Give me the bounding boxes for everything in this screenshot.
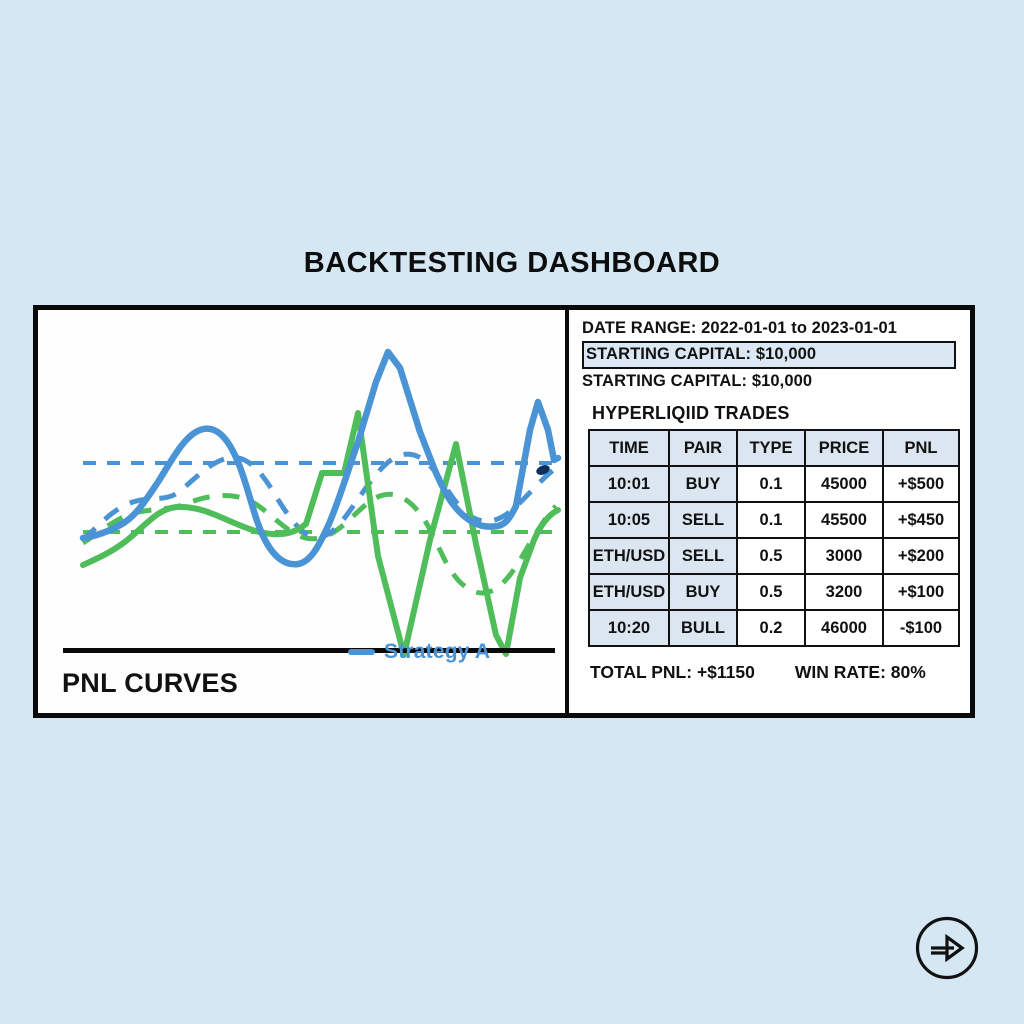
series-strategy-b xyxy=(83,413,558,655)
cell-type: 0.1 xyxy=(737,502,805,538)
trades-section-heading: HYPERLIQIID TRADES xyxy=(582,403,960,424)
cell-type: 0.2 xyxy=(737,610,805,646)
cell-time: ETH/USD xyxy=(589,538,669,574)
chart-caption: PNL CURVES xyxy=(62,668,238,699)
table-row[interactable]: 10:01 BUY 0.1 45000 +$500 xyxy=(589,466,959,502)
table-row[interactable]: ETH/USD BUY 0.5 3200 +$100 xyxy=(589,574,959,610)
series-strategy-a xyxy=(83,352,558,564)
cell-pnl: +$100 xyxy=(883,574,959,610)
win-rate-text: WIN RATE: 80% xyxy=(795,662,926,683)
circle-arrow-right-icon xyxy=(914,915,980,981)
table-header-row: TIME PAIR TYPE PRICE PNL xyxy=(589,430,959,466)
cell-time: 10:20 xyxy=(589,610,669,646)
column-header-pnl[interactable]: PNL xyxy=(883,430,959,466)
starting-capital-highlight-box[interactable]: STARTING CAPITAL: $10,000 xyxy=(582,341,956,369)
cell-type: 0.1 xyxy=(737,466,805,502)
starting-capital-text: STARTING CAPITAL: $10,000 xyxy=(582,372,960,391)
column-header-price[interactable]: PRICE xyxy=(805,430,883,466)
summary-row: TOTAL PNL: +$1150 WIN RATE: 80% xyxy=(582,662,960,683)
column-header-time[interactable]: TIME xyxy=(589,430,669,466)
cell-pair: SELL xyxy=(669,538,737,574)
cell-time: 10:05 xyxy=(589,502,669,538)
backtest-info-panel: DATE RANGE: 2022-01-01 to 2023-01-01 STA… xyxy=(569,310,970,713)
cell-type: 0.5 xyxy=(737,538,805,574)
cell-pnl: +$500 xyxy=(883,466,959,502)
cell-pair: BUY xyxy=(669,466,737,502)
cell-time: 10:01 xyxy=(589,466,669,502)
cell-pnl: -$100 xyxy=(883,610,959,646)
dashboard-panel: Strategy A PNL CURVES Strategy B DATE RA… xyxy=(33,305,975,718)
column-header-pair[interactable]: PAIR xyxy=(669,430,737,466)
pnl-chart-panel: Strategy A PNL CURVES Strategy B xyxy=(38,310,569,713)
table-row[interactable]: 10:20 BULL 0.2 46000 -$100 xyxy=(589,610,959,646)
table-row[interactable]: ETH/USD SELL 0.5 3000 +$200 xyxy=(589,538,959,574)
date-range-text: DATE RANGE: 2022-01-01 to 2023-01-01 xyxy=(582,319,960,338)
cell-pair: SELL xyxy=(669,502,737,538)
total-pnl-text: TOTAL PNL: +$1150 xyxy=(590,662,755,683)
cell-pair: BULL xyxy=(669,610,737,646)
page-title: BACKTESTING DASHBOARD xyxy=(0,247,1024,280)
cell-pnl: +$450 xyxy=(883,502,959,538)
legend-strategy-a[interactable]: Strategy A xyxy=(348,640,490,664)
cell-price: 3000 xyxy=(805,538,883,574)
legend-line-swatch-a xyxy=(348,649,375,655)
cell-price: 3200 xyxy=(805,574,883,610)
cell-pnl: +$200 xyxy=(883,538,959,574)
legend-strategy-a-label: Strategy A xyxy=(384,640,490,664)
starting-capital-highlight-text: STARTING CAPITAL: $10,000 xyxy=(586,345,816,363)
cell-time: ETH/USD xyxy=(589,574,669,610)
hyperliquid-trades-table: TIME PAIR TYPE PRICE PNL 10:01 BUY 0.1 4… xyxy=(588,429,960,647)
next-button[interactable] xyxy=(914,915,980,981)
table-row[interactable]: 10:05 SELL 0.1 45500 +$450 xyxy=(589,502,959,538)
cell-pair: BUY xyxy=(669,574,737,610)
cell-price: 45000 xyxy=(805,466,883,502)
cell-price: 46000 xyxy=(805,610,883,646)
column-header-type[interactable]: TYPE xyxy=(737,430,805,466)
cell-price: 45500 xyxy=(805,502,883,538)
cell-type: 0.5 xyxy=(737,574,805,610)
